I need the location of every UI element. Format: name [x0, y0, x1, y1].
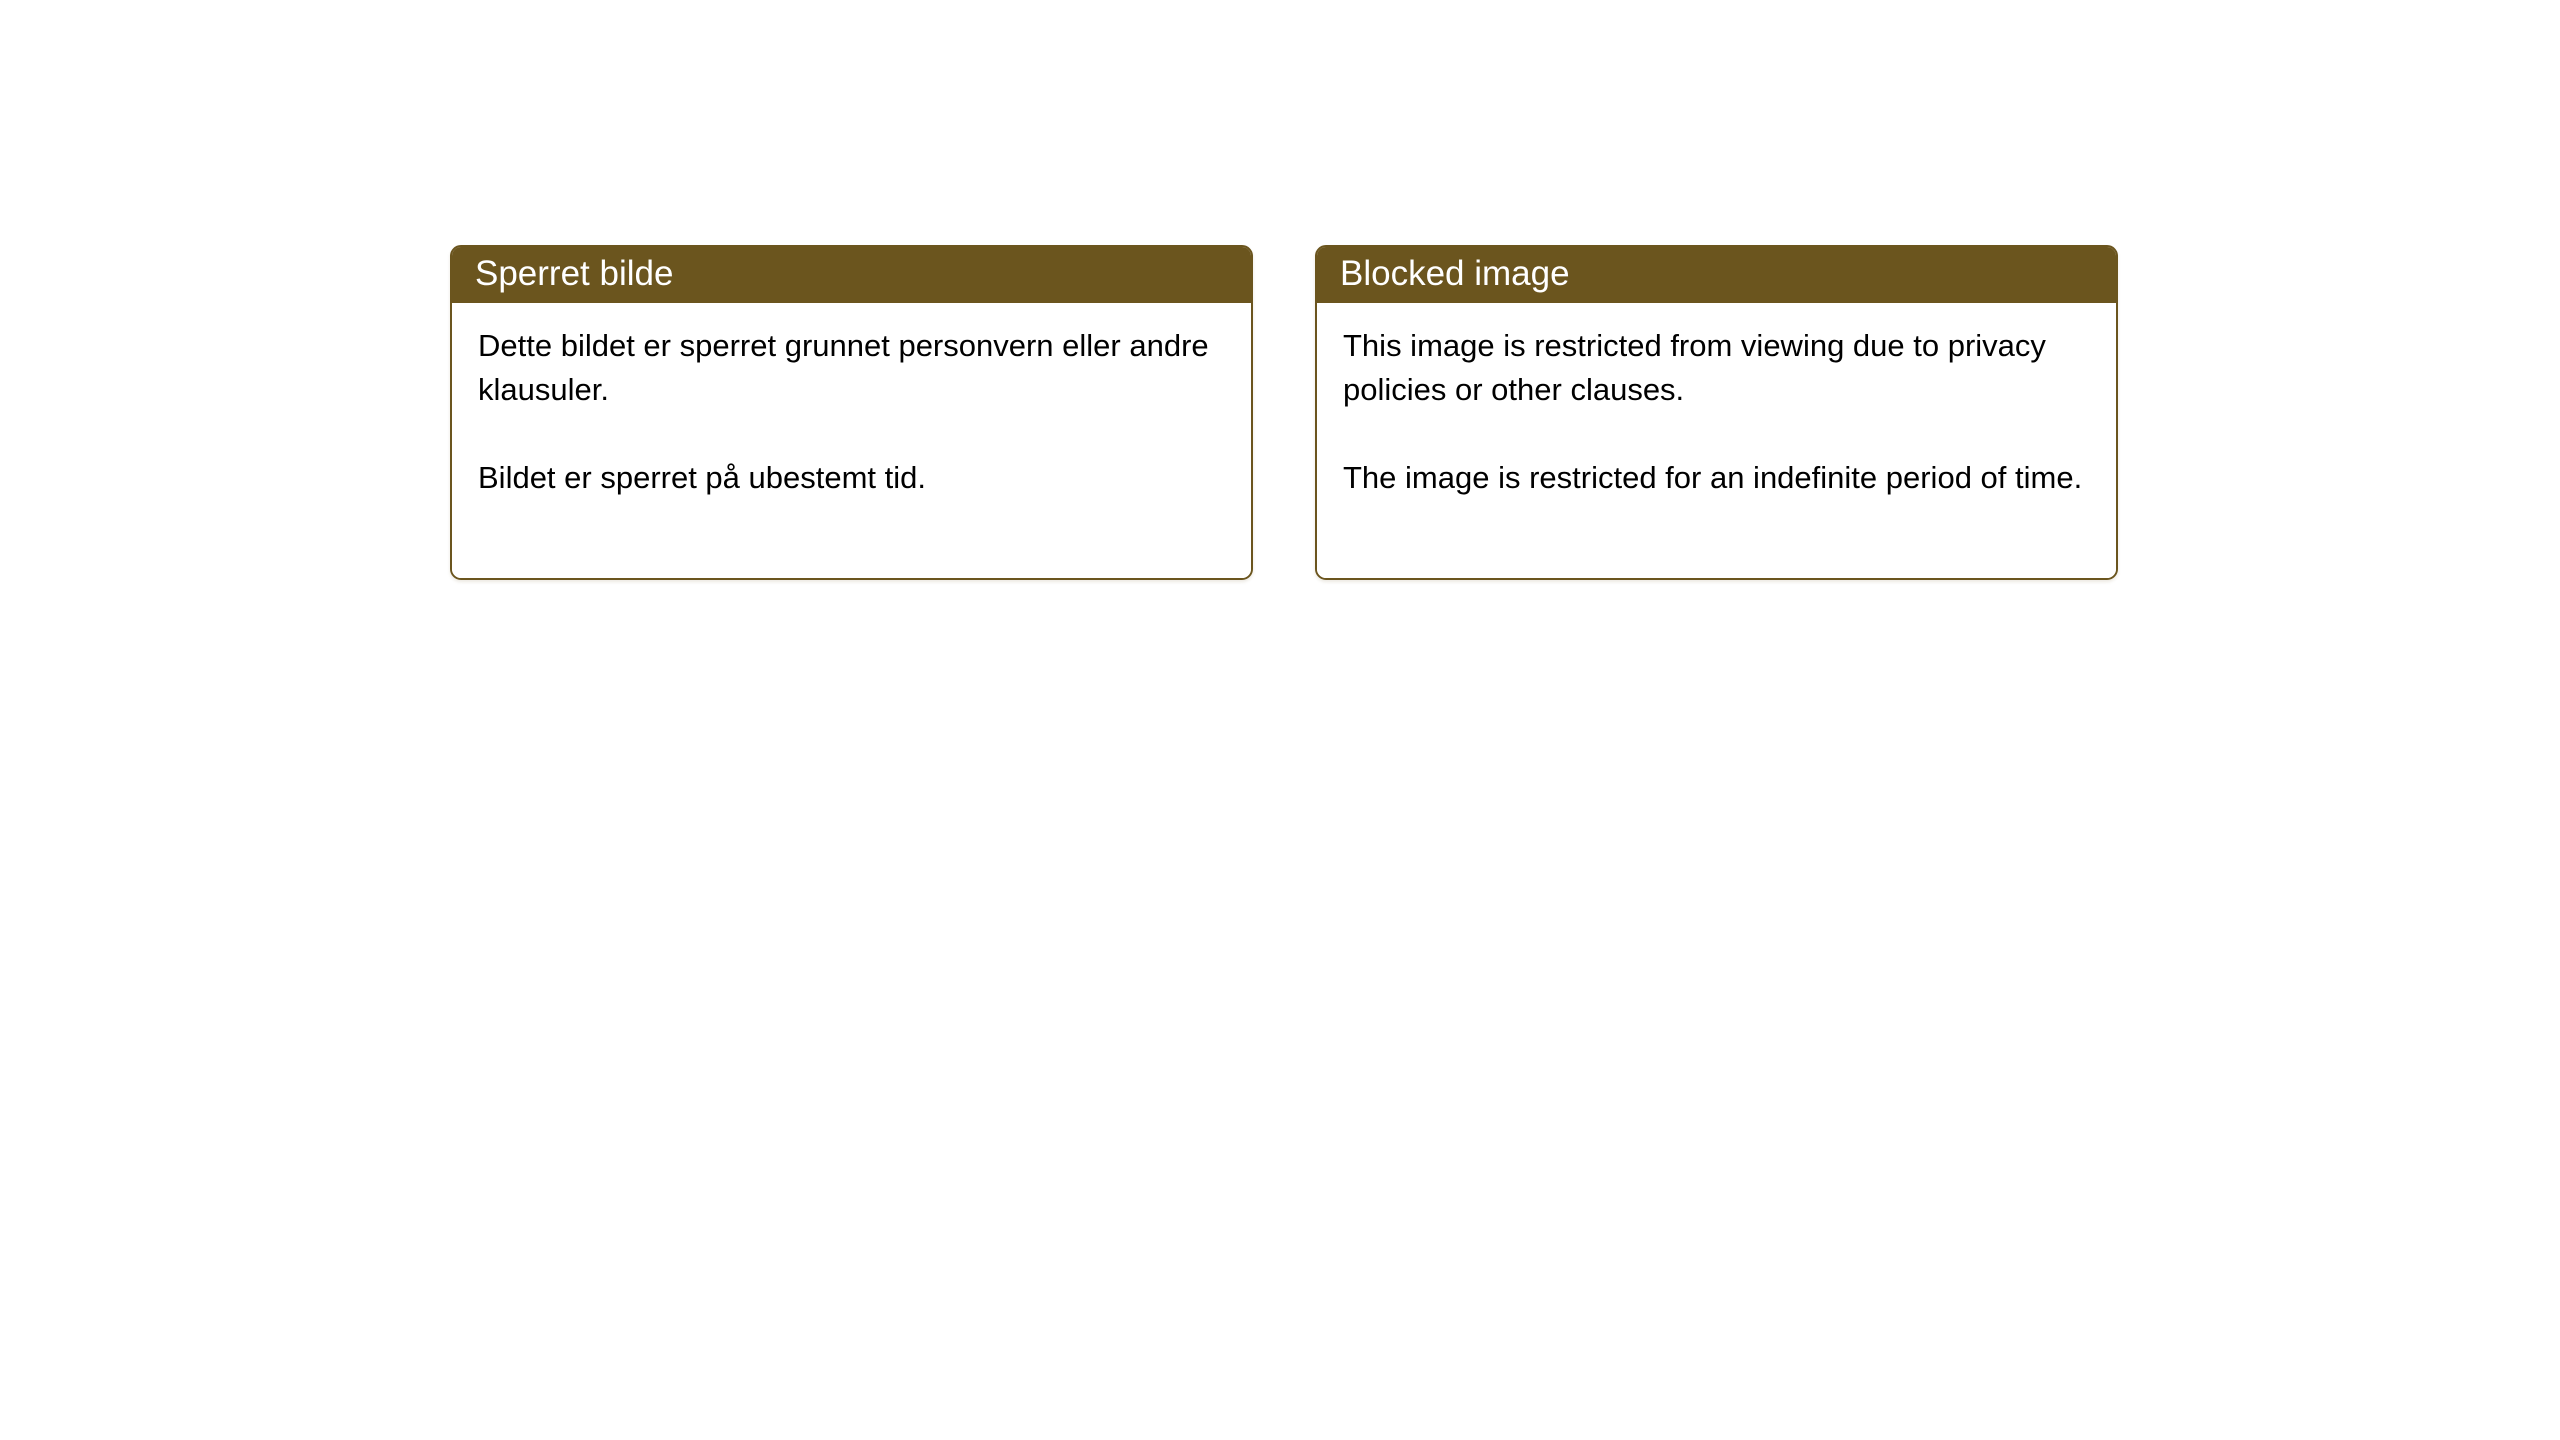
card-paragraph-duration-norwegian: Bildet er sperret på ubestemt tid. [478, 456, 1227, 500]
card-title-english: Blocked image [1340, 254, 1570, 294]
card-paragraph-reason-english: This image is restricted from viewing du… [1343, 324, 2092, 412]
card-title-norwegian: Sperret bilde [475, 254, 673, 294]
card-paragraph-duration-english: The image is restricted for an indefinit… [1343, 456, 2092, 500]
blocked-image-card-norwegian: Sperret bilde Dette bildet er sperret gr… [450, 245, 1253, 580]
card-body-norwegian: Dette bildet er sperret grunnet personve… [452, 303, 1251, 578]
blocked-image-notice-group: Sperret bilde Dette bildet er sperret gr… [450, 245, 2118, 580]
card-header-norwegian: Sperret bilde [450, 245, 1253, 303]
blocked-image-card-english: Blocked image This image is restricted f… [1315, 245, 2118, 580]
card-paragraph-reason-norwegian: Dette bildet er sperret grunnet personve… [478, 324, 1227, 412]
card-header-english: Blocked image [1315, 245, 2118, 303]
page-canvas: Sperret bilde Dette bildet er sperret gr… [0, 0, 2560, 1440]
card-body-english: This image is restricted from viewing du… [1317, 303, 2116, 578]
